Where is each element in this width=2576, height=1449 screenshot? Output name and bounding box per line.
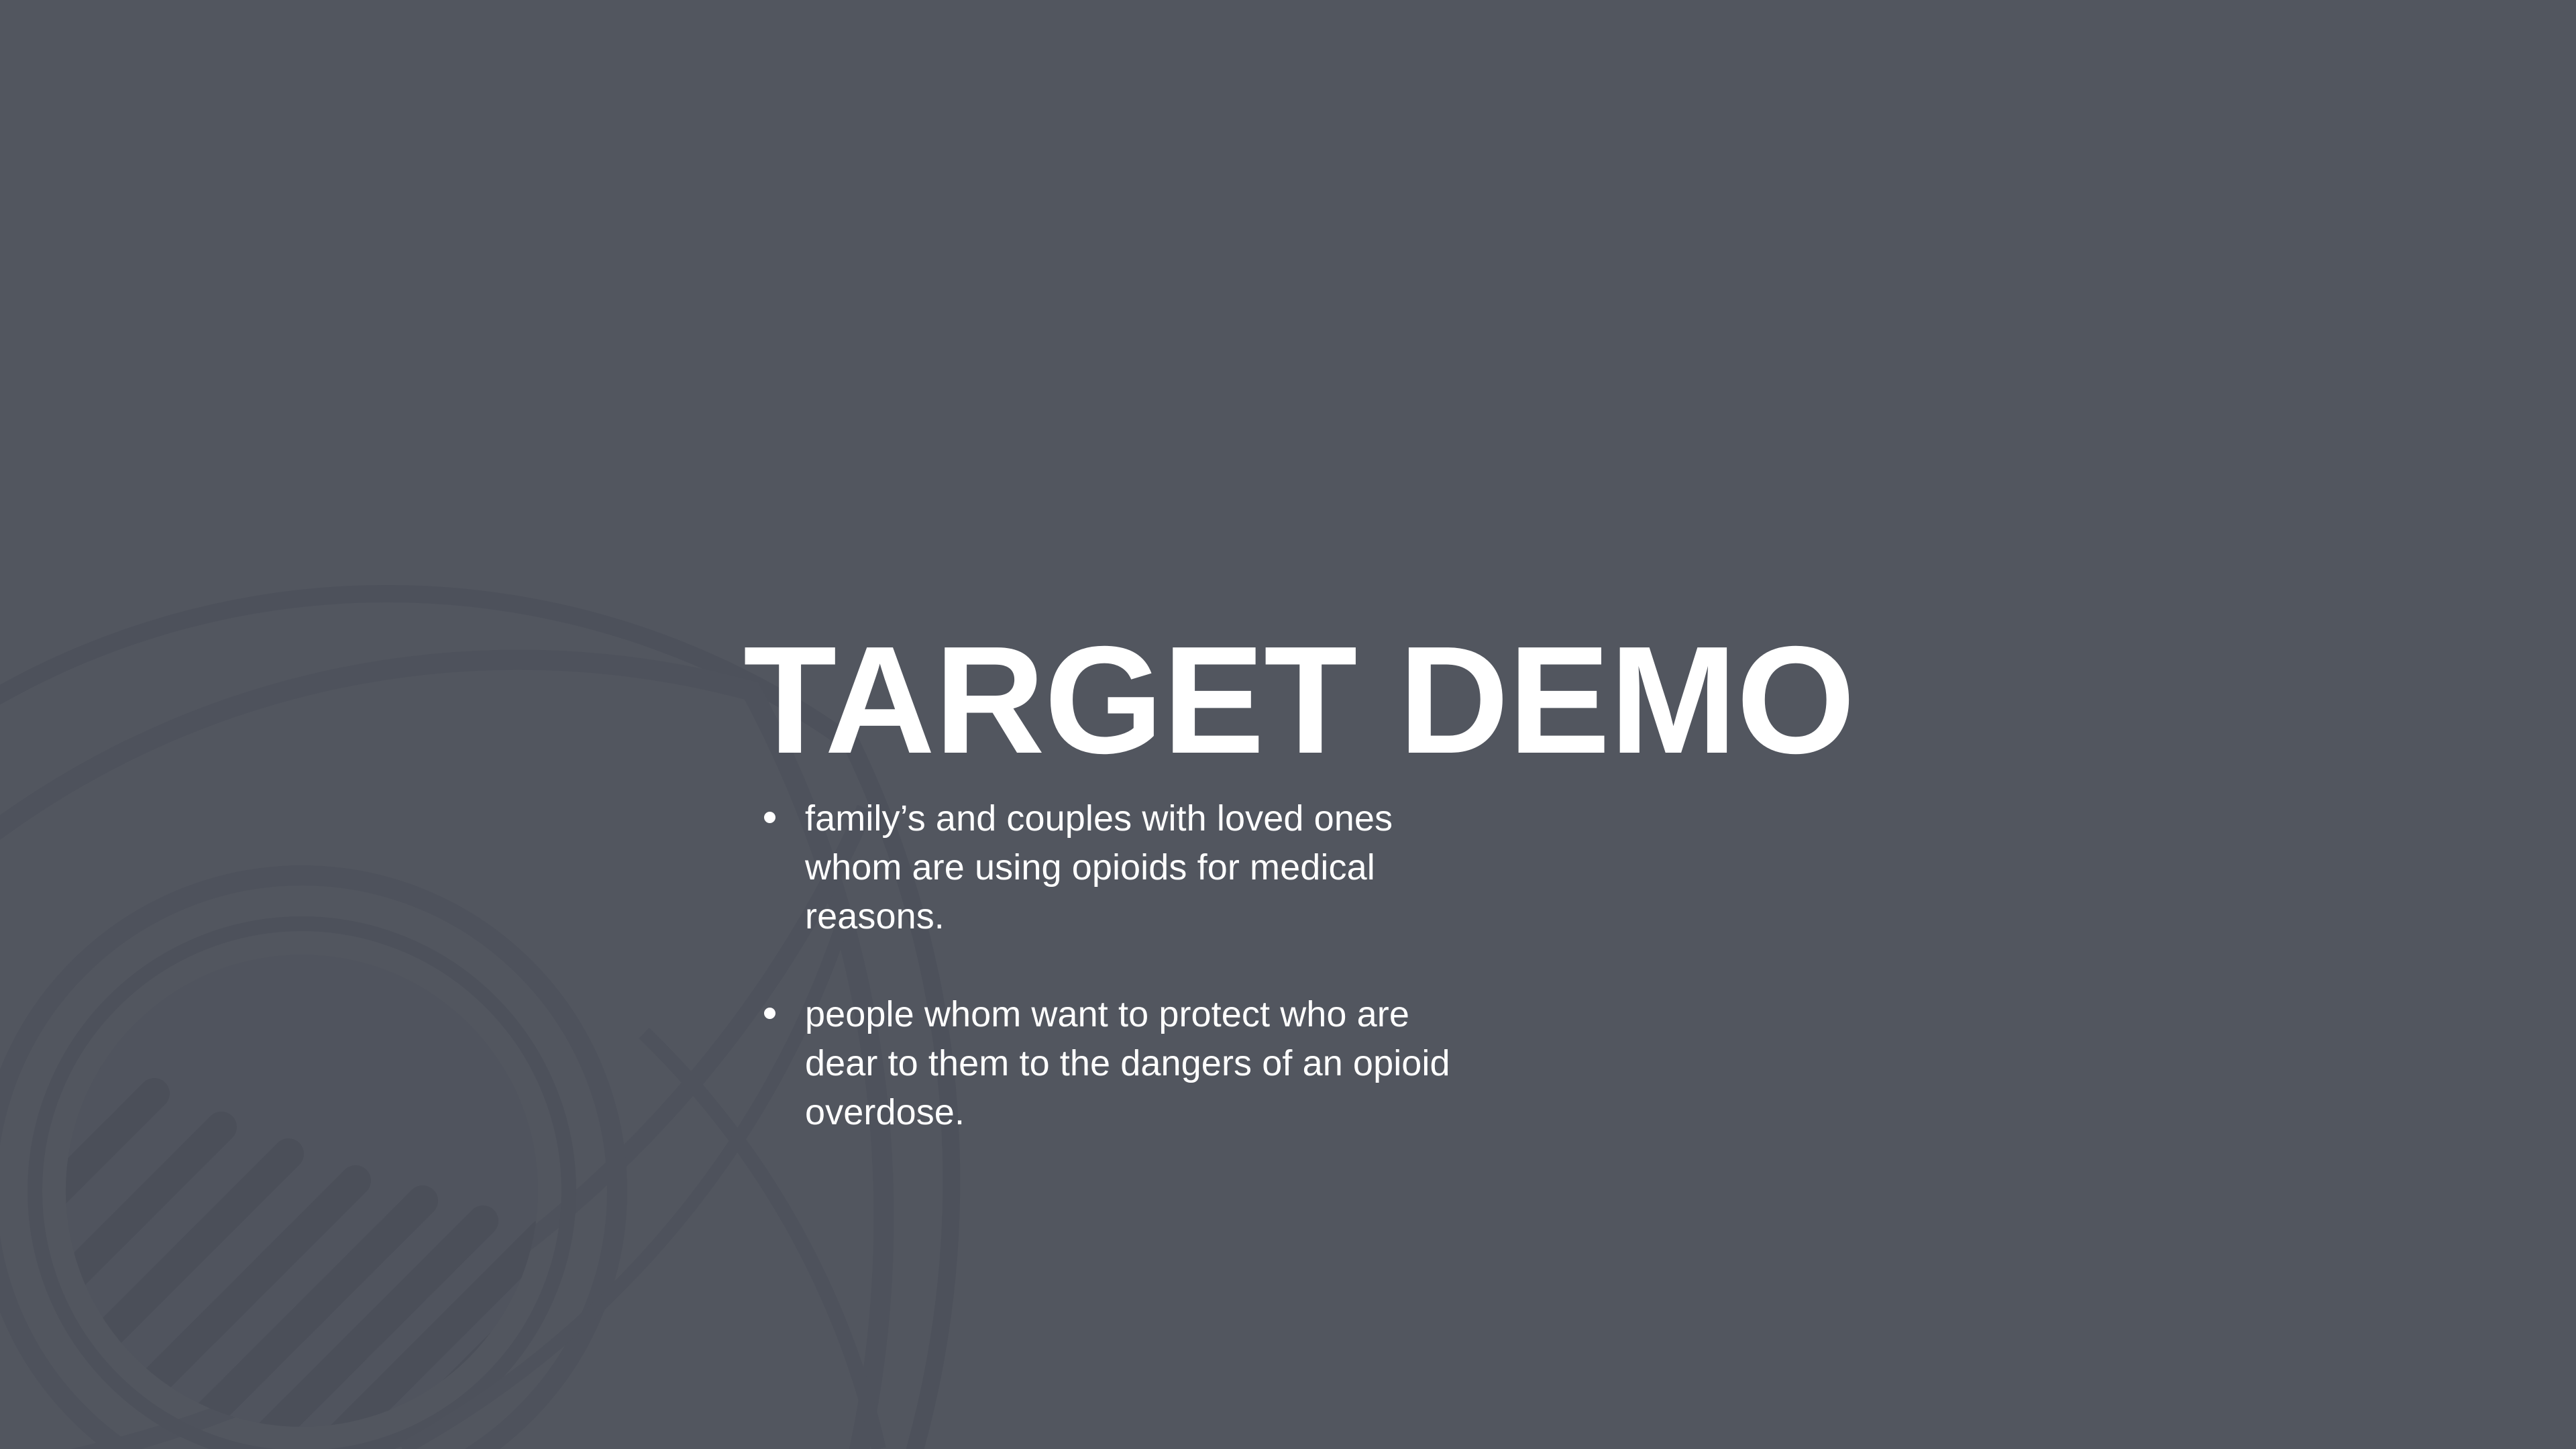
page-title: TARGET DEMO <box>743 624 1884 777</box>
bullet-dot-icon <box>764 1008 775 1019</box>
list-item: people whom want to protect who are dear… <box>743 990 1489 1137</box>
bullet-text: people whom want to protect who are dear… <box>805 990 1489 1137</box>
striped-disc <box>0 926 637 1449</box>
mid-ring-outer <box>0 875 617 1449</box>
outer-arc-sweep <box>0 808 865 1449</box>
slide-content: TARGET DEMO family’s and couples with lo… <box>743 624 1884 1137</box>
bullet-dot-icon <box>764 812 775 823</box>
bullet-list: family’s and couples with loved ones who… <box>743 794 1884 1137</box>
presentation-slide: TARGET DEMO family’s and couples with lo… <box>0 0 2576 1449</box>
disc-stripes <box>0 1060 637 1449</box>
list-item: family’s and couples with loved ones who… <box>743 794 1489 941</box>
mid-ring-inner <box>35 924 569 1449</box>
bullet-text: family’s and couples with loved ones who… <box>805 794 1489 941</box>
disc-fill <box>0 926 631 1449</box>
